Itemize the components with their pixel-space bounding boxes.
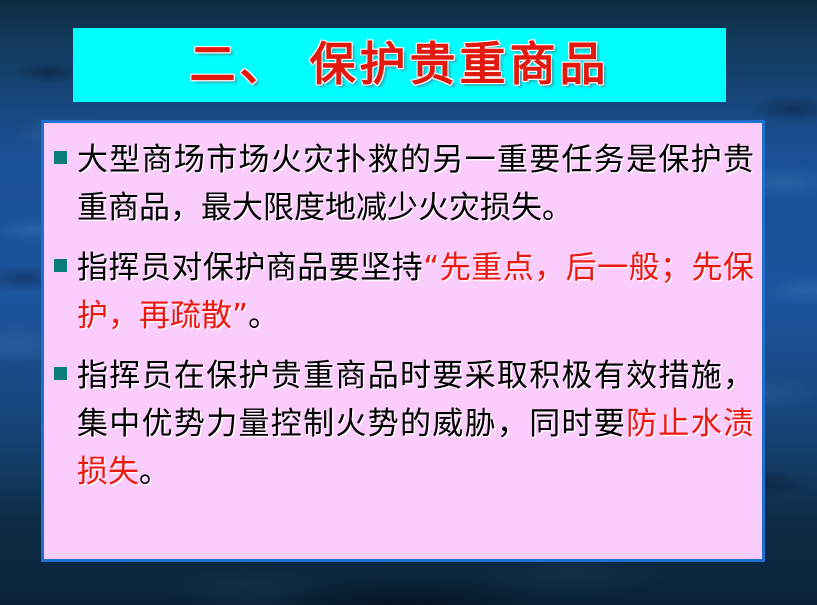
slide-title: 二、 保护贵重商品 [189, 41, 609, 87]
bullet-list: 大型商场市场火灾扑救的另一重要任务是保护贵重商品，最大限度地减少火灾损失。指挥员… [52, 136, 754, 496]
body-text: 指挥员对保护商品要坚持 [77, 250, 423, 286]
square-bullet-icon [54, 151, 67, 164]
body-text: 。 [139, 454, 170, 490]
body-text: 。 [248, 298, 279, 334]
list-item: 大型商场市场火灾扑救的另一重要任务是保护贵重商品，最大限度地减少火灾损失。 [52, 136, 754, 232]
list-item: 指挥员对保护商品要坚持“先重点，后一般；先保护，再疏散”。 [52, 244, 754, 340]
bullet-text: 指挥员对保护商品要坚持“先重点，后一般；先保护，再疏散”。 [77, 244, 754, 340]
content-panel: 大型商场市场火灾扑救的另一重要任务是保护贵重商品，最大限度地减少火灾损失。指挥员… [41, 120, 765, 562]
bullet-text: 大型商场市场火灾扑救的另一重要任务是保护贵重商品，最大限度地减少火灾损失。 [77, 136, 754, 232]
title-banner: 二、 保护贵重商品 [73, 28, 726, 102]
list-item: 指挥员在保护贵重商品时要采取积极有效措施，集中优势力量控制火势的威胁，同时要防止… [52, 352, 754, 496]
square-bullet-icon [54, 259, 67, 272]
body-text: 大型商场市场火灾扑救的另一重要任务是保护贵重商品，最大限度地减少火灾损失。 [77, 142, 754, 226]
square-bullet-icon [54, 367, 67, 380]
bullet-text: 指挥员在保护贵重商品时要采取积极有效措施，集中优势力量控制火势的威胁，同时要防止… [77, 352, 754, 496]
slide-canvas: 二、 保护贵重商品 大型商场市场火灾扑救的另一重要任务是保护贵重商品，最大限度地… [0, 0, 817, 605]
